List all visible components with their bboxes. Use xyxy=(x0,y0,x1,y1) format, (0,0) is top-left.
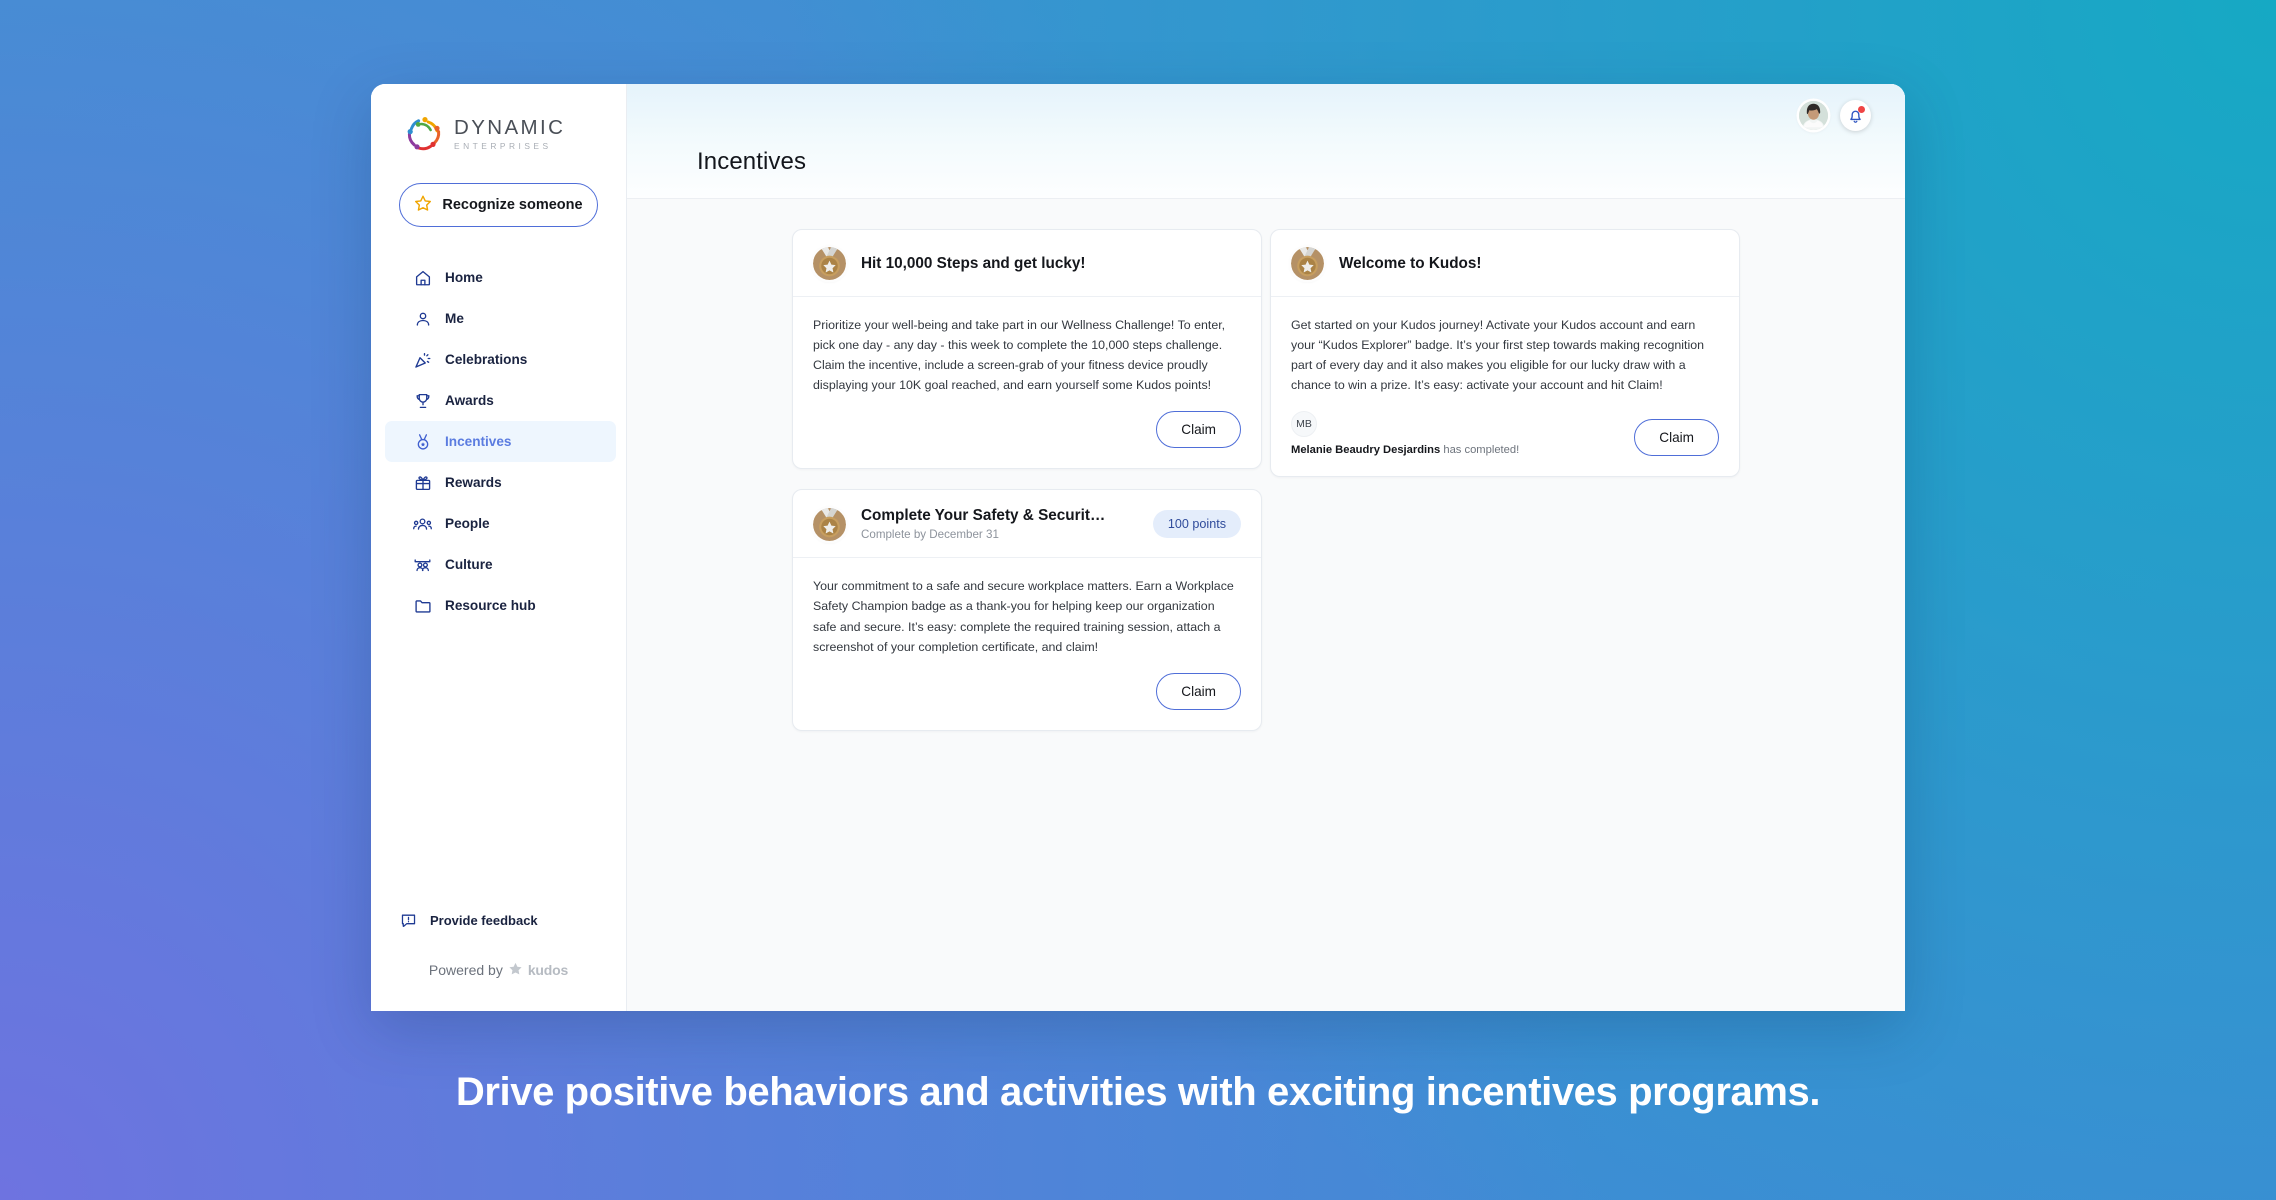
sidebar-item-me[interactable]: Me xyxy=(385,298,616,339)
gift-icon xyxy=(413,473,432,492)
card-footer: Claim xyxy=(793,395,1261,468)
powered-by-prefix: Powered by xyxy=(429,962,503,978)
people-icon xyxy=(413,514,432,533)
sidebar-item-people[interactable]: People xyxy=(385,503,616,544)
incentives-grid: Hit 10,000 Steps and get lucky! Prioriti… xyxy=(792,229,1740,731)
card-header: Hit 10,000 Steps and get lucky! xyxy=(793,230,1261,297)
sidebar-spacer xyxy=(371,626,626,903)
page-header: Incentives xyxy=(627,84,1905,199)
powered-by-brand: kudos xyxy=(528,962,568,978)
card-description: Prioritize your well-being and take part… xyxy=(813,315,1241,395)
powered-by: Powered by kudos xyxy=(371,961,626,979)
main-area: Incentives xyxy=(627,84,1905,1011)
card-title: Complete Your Safety & Securit… xyxy=(861,507,1138,525)
incentives-content: Hit 10,000 Steps and get lucky! Prioriti… xyxy=(627,199,1905,1011)
folder-icon xyxy=(413,596,432,615)
completer-avatar: MB xyxy=(1291,411,1317,437)
card-subtitle: Complete by December 31 xyxy=(861,528,1138,541)
sidebar: DYNAMIC ENTERPRISES Recognize someone xyxy=(371,84,627,1011)
completed-suffix: has completed! xyxy=(1440,444,1519,456)
incentive-card[interactable]: Hit 10,000 Steps and get lucky! Prioriti… xyxy=(792,229,1262,469)
star-icon xyxy=(508,961,523,979)
home-icon xyxy=(413,268,432,287)
marketing-caption: Drive positive behaviors and activities … xyxy=(0,1070,2276,1115)
trophy-icon xyxy=(413,391,432,410)
sidebar-item-incentives[interactable]: Incentives xyxy=(385,421,616,462)
sidebar-item-label: Celebrations xyxy=(445,352,527,367)
page-title: Incentives xyxy=(697,148,806,176)
points-badge: 100 points xyxy=(1153,510,1241,538)
claim-button[interactable]: Claim xyxy=(1634,419,1719,456)
sidebar-item-culture[interactable]: Culture xyxy=(385,544,616,585)
sidebar-item-resource-hub[interactable]: Resource hub xyxy=(385,585,616,626)
bell-icon xyxy=(1847,107,1864,124)
sidebar-item-label: Incentives xyxy=(445,434,512,449)
party-popper-icon xyxy=(413,350,432,369)
card-footer: Claim xyxy=(793,657,1261,730)
notification-badge-dot xyxy=(1858,106,1865,113)
card-body: Your commitment to a safe and secure wor… xyxy=(793,558,1261,656)
notifications-button[interactable] xyxy=(1840,100,1871,131)
recognize-someone-button[interactable]: Recognize someone xyxy=(399,183,598,227)
provide-feedback-label: Provide feedback xyxy=(430,913,538,928)
gold-medal-icon xyxy=(1291,247,1324,280)
medal-icon xyxy=(413,432,432,451)
avatar[interactable] xyxy=(1799,101,1828,130)
brand-name: DYNAMIC xyxy=(454,118,565,139)
sidebar-item-label: Resource hub xyxy=(445,598,536,613)
sidebar-item-rewards[interactable]: Rewards xyxy=(385,462,616,503)
app-window: DYNAMIC ENTERPRISES Recognize someone xyxy=(371,84,1905,1011)
card-body: Get started on your Kudos journey! Activ… xyxy=(1271,297,1739,395)
sidebar-item-celebrations[interactable]: Celebrations xyxy=(385,339,616,380)
claim-button[interactable]: Claim xyxy=(1156,411,1241,448)
completed-by-block: MB Melanie Beaudry Desjardins has comple… xyxy=(1291,411,1519,456)
feedback-bubble-icon xyxy=(399,911,418,930)
gold-medal-icon xyxy=(813,247,846,280)
gold-medal-icon xyxy=(813,508,846,541)
recognize-someone-label: Recognize someone xyxy=(442,197,582,213)
people-circle-logo-icon xyxy=(405,114,445,154)
incentive-card[interactable]: Complete Your Safety & Securit… Complete… xyxy=(792,489,1262,730)
sidebar-nav: Home Me Celebrations xyxy=(371,257,626,626)
claim-button[interactable]: Claim xyxy=(1156,673,1241,710)
provide-feedback-button[interactable]: Provide feedback xyxy=(371,903,626,937)
completed-status: Melanie Beaudry Desjardins has completed… xyxy=(1291,444,1519,456)
card-body: Prioritize your well-being and take part… xyxy=(793,297,1261,395)
card-title: Hit 10,000 Steps and get lucky! xyxy=(861,255,1241,273)
header-actions xyxy=(1799,100,1871,131)
sidebar-item-label: Rewards xyxy=(445,475,502,490)
star-icon xyxy=(414,194,432,216)
brand-logo[interactable]: DYNAMIC ENTERPRISES xyxy=(371,110,626,158)
person-icon xyxy=(413,309,432,328)
sidebar-item-label: Culture xyxy=(445,557,493,572)
completer-name: Melanie Beaudry Desjardins xyxy=(1291,444,1440,456)
sidebar-item-label: Home xyxy=(445,270,483,285)
sidebar-item-awards[interactable]: Awards xyxy=(385,380,616,421)
card-title: Welcome to Kudos! xyxy=(1339,255,1719,273)
card-header: Complete Your Safety & Securit… Complete… xyxy=(793,490,1261,558)
card-description: Get started on your Kudos journey! Activ… xyxy=(1291,315,1719,395)
culture-icon xyxy=(413,555,432,574)
card-description: Your commitment to a safe and secure wor… xyxy=(813,576,1241,656)
incentive-card[interactable]: Welcome to Kudos! Get started on your Ku… xyxy=(1270,229,1740,477)
card-footer: MB Melanie Beaudry Desjardins has comple… xyxy=(1271,395,1739,476)
sidebar-item-home[interactable]: Home xyxy=(385,257,616,298)
card-header: Welcome to Kudos! xyxy=(1271,230,1739,297)
sidebar-item-label: Me xyxy=(445,311,464,326)
sidebar-item-label: Awards xyxy=(445,393,494,408)
brand-subtitle: ENTERPRISES xyxy=(454,142,565,150)
sidebar-item-label: People xyxy=(445,516,490,531)
